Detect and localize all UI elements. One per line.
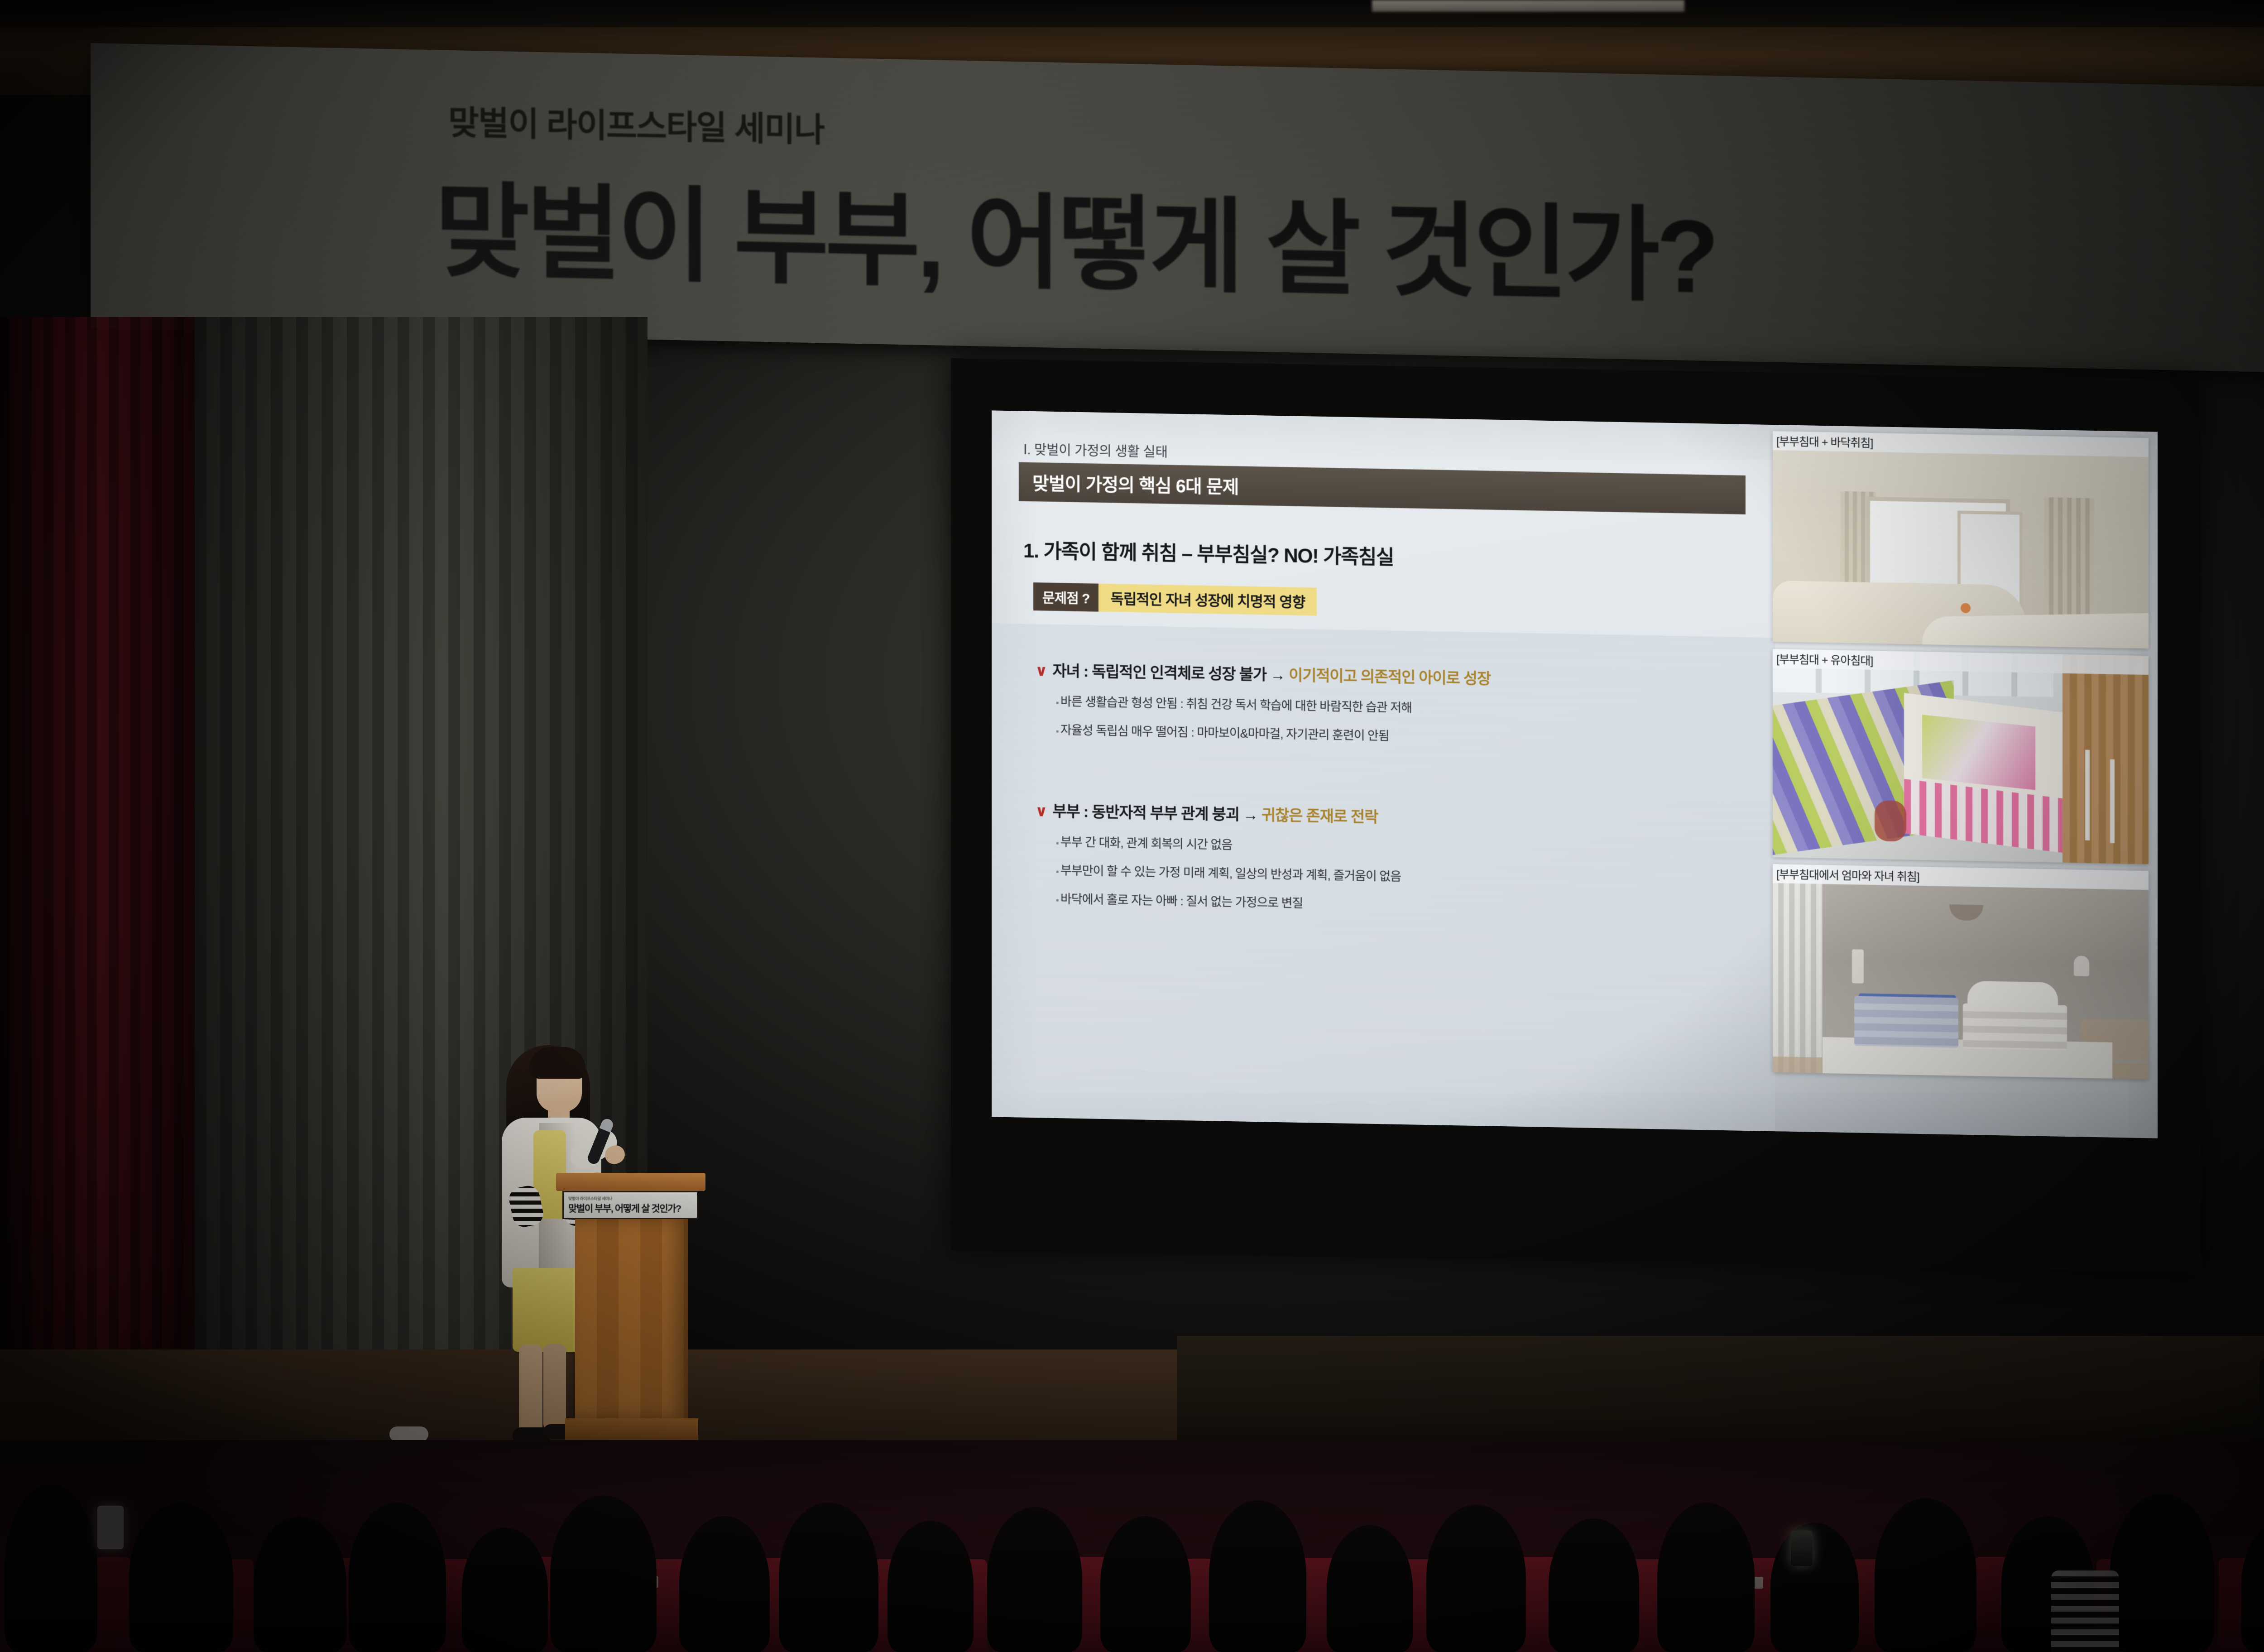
audience-head	[550, 1496, 657, 1652]
projection-screen: Ⅰ. 맞벌이 가정의 생활 실태 맞벌이 가정의 핵심 6대 문제 1. 가족이…	[992, 410, 2158, 1138]
audience-head	[2241, 1518, 2264, 1652]
bullet-sub-line: 바른 생활습관 형성 안됨 : 취침 건강 독서 학습에 대한 바람직한 습관 …	[1056, 692, 1491, 717]
bullet-main-highlight: 귀찮은 존재로 전락	[1262, 807, 1378, 826]
banner-subtitle: 맞벌이 라이프스타일 세미나	[448, 96, 824, 152]
audience-head	[1770, 1523, 1859, 1652]
audience-head	[254, 1516, 346, 1652]
problem-callout: 문제점 ? 독립적인 자녀 성장에 치명적 영향	[1033, 582, 1317, 615]
podium-sign-title: 맞벌이 부부, 어떻게 살 것인가?	[568, 1201, 697, 1215]
slide-photo: [부부침대 + 바닥취침]	[1773, 431, 2149, 648]
audience-head	[679, 1516, 770, 1652]
audience-head	[349, 1503, 446, 1652]
slide-question-line: 1. 가족이 함께 취침 – 부부침실? NO! 가족침실	[1023, 534, 1394, 570]
problem-value-label: 독립적인 자녀 성장에 치명적 영향	[1098, 584, 1317, 616]
audience-phone-screen	[97, 1506, 124, 1549]
ceiling-light	[1372, 0, 1684, 12]
audience-head	[1875, 1498, 1976, 1652]
bullet-group-couple: ∨부부 : 동반자적 부부 관계 붕괴 → 귀찮은 존재로 전락 부부 간 대화…	[1035, 798, 1401, 913]
audience-head	[1209, 1500, 1306, 1652]
banner-title: 맞벌이 부부, 어떻게 살 것인가?	[435, 147, 1716, 322]
audience-phone-screen	[1791, 1531, 1813, 1566]
podium-sign-subtitle: 맞벌이 라이프스타일 세미나	[568, 1196, 697, 1201]
bullet-main-prefix: 자녀 : 독립적인 인격체로 성장 불가 →	[1052, 663, 1289, 684]
check-icon: ∨	[1035, 662, 1047, 679]
podium-base	[565, 1418, 698, 1443]
problem-tag-label: 문제점 ?	[1033, 582, 1098, 612]
slide-header-bar: 맞벌이 가정의 핵심 6대 문제	[1019, 462, 1746, 514]
audience-head	[1327, 1525, 1413, 1652]
stray-shoe	[389, 1426, 428, 1442]
audience-head	[887, 1521, 974, 1652]
audience-head	[1549, 1518, 1639, 1652]
camera-lens-hood	[2259, 1359, 2264, 1417]
bullet-group-children: ∨자녀 : 독립적인 인격체로 성장 불가 → 이기적이고 의존적인 아이로 성…	[1035, 658, 1491, 745]
bullet-main-prefix: 부부 : 동반자적 부부 관계 붕괴 →	[1052, 803, 1262, 824]
seminar-photo-scene: 맞벌이 라이프스타일 세미나 맞벌이 부부, 어떻게 살 것인가? 주최 Ⅰ. …	[0, 0, 2264, 1652]
audience-head	[779, 1503, 878, 1652]
audience-head	[2110, 1494, 2214, 1652]
podium-body	[575, 1219, 688, 1418]
podium-top	[556, 1173, 705, 1191]
audience-striped-shirt	[2051, 1570, 2119, 1652]
podium-sign: 맞벌이 라이프스타일 세미나 맞벌이 부부, 어떻게 살 것인가?	[562, 1191, 698, 1219]
speaker-leg-right	[543, 1344, 566, 1430]
presentation-slide: Ⅰ. 맞벌이 가정의 생활 실태 맞벌이 가정의 핵심 6대 문제 1. 가족이…	[992, 410, 2158, 1138]
slide-photo: [부부침대에서 엄마와 자녀 취침]	[1773, 864, 2149, 1079]
audience-head	[1657, 1503, 1755, 1652]
speaker-fringe	[529, 1047, 585, 1079]
slide-section-eyebrow: Ⅰ. 맞벌이 가정의 생활 실태	[1023, 438, 1168, 461]
slide-header-text: 맞벌이 가정의 핵심 6대 문제	[1032, 469, 1239, 499]
audience-head	[1100, 1516, 1191, 1652]
audience-head	[987, 1507, 1082, 1652]
audience-head	[462, 1527, 548, 1652]
podium: 맞벌이 라이프스타일 세미나 맞벌이 부부, 어떻게 살 것인가?	[575, 1173, 688, 1454]
slide-photo: [부부침대 + 유아침대]	[1773, 649, 2149, 864]
bullet-main-highlight: 이기적이고 의존적인 아이로 성장	[1289, 667, 1491, 687]
bullet-sub-line: 부부 간 대화, 관계 회복의 시간 없음	[1056, 832, 1401, 856]
speaker-leg-left	[519, 1345, 542, 1433]
speaker-skirt	[513, 1268, 585, 1352]
check-icon: ∨	[1035, 802, 1047, 820]
red-stage-curtain	[0, 317, 217, 1386]
audience-head	[5, 1484, 97, 1652]
bullet-sub-line: 부부만이 할 수 있는 가정 미래 계획, 일상의 반성과 계획, 즐거움이 없…	[1056, 860, 1401, 884]
lower-wood-wall	[1177, 1336, 2264, 1454]
audience-head	[1426, 1505, 1526, 1652]
audience-area	[0, 1440, 2264, 1652]
audience-head	[129, 1503, 233, 1652]
